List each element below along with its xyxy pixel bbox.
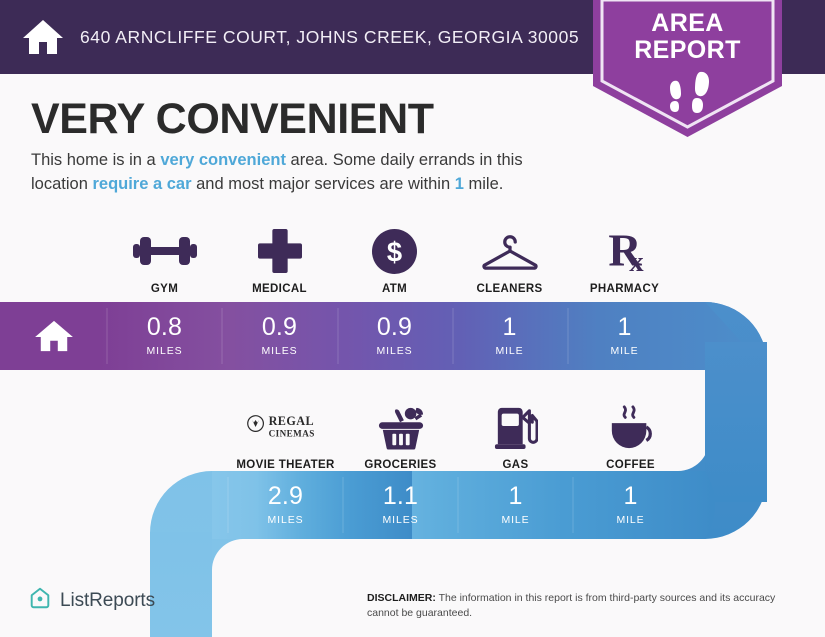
svg-text:CINEMAS: CINEMAS [268,429,314,439]
category-coffee: COFFEE [573,404,688,471]
category-label: PHARMACY [590,283,659,295]
medical-cross-icon [258,228,302,274]
category-gym: GYM [107,228,222,295]
category-pharmacy: R x PHARMACY [567,228,682,295]
dollar-circle-icon: $ [372,228,417,274]
summary-part-1: This home is in a [31,151,160,169]
category-label: ATM [382,283,407,295]
summary-part-4: mile. [464,175,503,193]
category-label: CLEANERS [476,283,542,295]
distance-medical: 0.9 MILES [222,302,337,370]
distance-unit: MILE [495,345,523,357]
row1-distance-list: 0.8 MILES 0.9 MILES 0.9 MILES 1 MILE 1 M… [0,302,682,370]
category-cleaners: CLEANERS [452,228,567,295]
distance-unit: MILES [382,514,418,526]
distance-value: 1 [502,315,516,340]
badge-line-1: AREA [585,10,790,37]
distance-unit: MILE [616,514,644,526]
distance-value: 1.1 [383,484,418,509]
row2-icon-list: REGAL CINEMAS MOVIE THEATER [228,404,688,471]
distance-value: 0.8 [147,315,182,340]
category-label: GYM [151,283,178,295]
rx-icon: R x [602,228,648,274]
distance-pharmacy: 1 MILE [567,302,682,370]
regal-cinemas-logo: REGAL CINEMAS [246,404,326,450]
distance-unit: MILE [610,345,638,357]
distance-value: 1 [617,315,631,340]
distance-value: 2.9 [268,484,303,509]
svg-text:$: $ [387,236,402,267]
distance-unit: MILES [267,514,303,526]
category-movie-theater: REGAL CINEMAS MOVIE THEATER [228,404,343,471]
listreports-house-icon [28,586,52,615]
svg-text:REGAL: REGAL [268,414,313,428]
property-address: 640 ARNCLIFFE COURT, JOHNS CREEK, GEORGI… [80,27,579,48]
grocery-basket-icon [376,404,426,450]
category-atm: $ ATM [337,228,452,295]
home-marker [0,302,107,370]
summary-text: This home is in a very convenient area. … [31,148,576,196]
category-groceries: GROCERIES [343,404,458,471]
area-report-badge: AREA REPORT [585,0,790,138]
category-gas: GAS [458,404,573,471]
distance-value: 0.9 [377,315,412,340]
hanger-icon [479,228,541,274]
category-label: GAS [503,459,529,471]
listreports-logo[interactable]: ListReports [28,586,155,615]
disclaimer: DISCLAIMER: The information in this repo… [367,591,792,621]
house-icon [22,18,64,56]
svg-text:x: x [629,246,644,273]
distance-value: 0.9 [262,315,297,340]
category-label: GROCERIES [364,459,436,471]
dumbbell-icon [133,228,197,274]
area-report-infographic: 640 ARNCLIFFE COURT, JOHNS CREEK, GEORGI… [0,0,825,637]
distance-gas: 1 MILE [458,471,573,539]
badge-line-2: REPORT [585,37,790,64]
distance-unit: MILE [501,514,529,526]
category-medical: MEDICAL [222,228,337,295]
distance-value: 1 [508,484,522,509]
distance-unit: MILES [376,345,412,357]
distance-cleaners: 1 MILE [452,302,567,370]
summary-highlight-1: very convenient [160,151,286,169]
gas-pump-icon [494,404,538,450]
summary-highlight-3: 1 [455,175,464,193]
distance-atm: 0.9 MILES [337,302,452,370]
distance-coffee: 1 MILE [573,471,688,539]
category-label: MOVIE THEATER [236,459,334,471]
badge-label: AREA REPORT [585,10,790,63]
row1-icon-list: GYM MEDICAL $ ATM [107,228,682,295]
page-title: VERY CONVENIENT [31,95,434,144]
disclaimer-label: DISCLAIMER: [367,592,436,604]
coffee-cup-icon [605,404,657,450]
summary-part-3: and most major services are within [192,175,455,193]
distance-unit: MILES [146,345,182,357]
listreports-wordmark: ListReports [60,590,155,612]
distance-movie-theater: 2.9 MILES [228,471,343,539]
summary-highlight-2: require a car [92,175,191,193]
distance-gym: 0.8 MILES [107,302,222,370]
row2-distance-list: 2.9 MILES 1.1 MILES 1 MILE 1 MILE [228,471,688,539]
distance-groceries: 1.1 MILES [343,471,458,539]
distance-unit: MILES [261,345,297,357]
category-label: MEDICAL [252,283,307,295]
category-label: COFFEE [606,459,655,471]
distance-value: 1 [623,484,637,509]
